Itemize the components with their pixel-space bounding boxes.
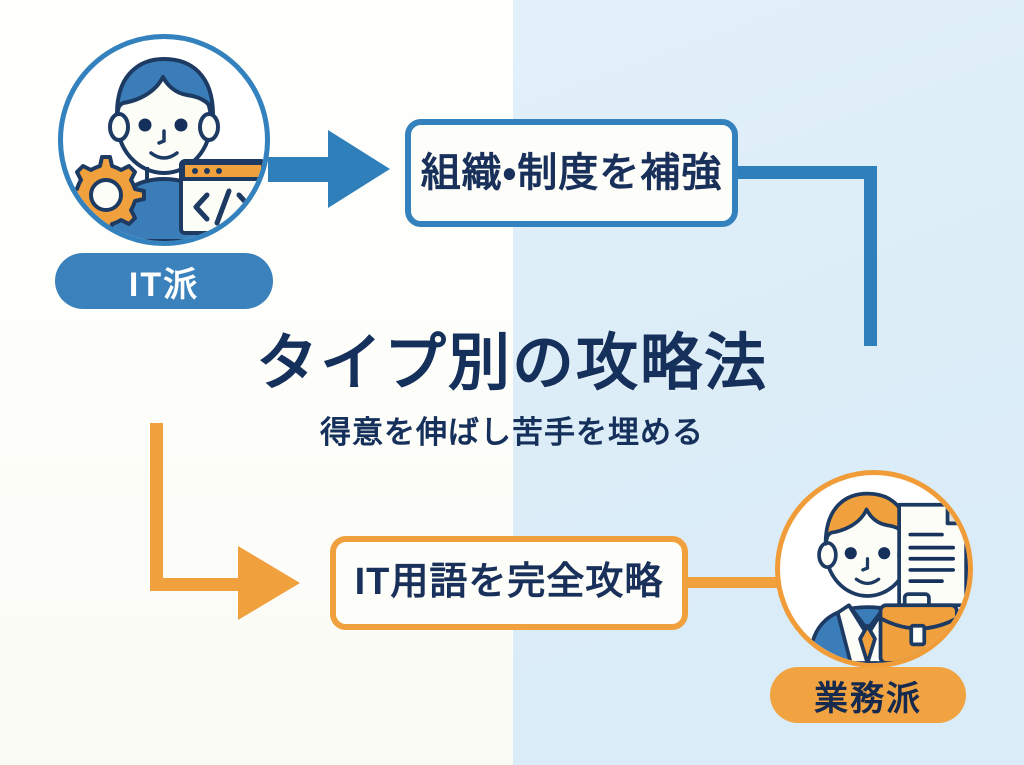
action-box-organization-label: 組織・制度を補強	[421, 151, 723, 195]
business-person-illustration	[780, 475, 968, 663]
connector-blue-vertical	[864, 166, 877, 346]
action-box-it-terms-label: IT用語を完全攻略	[355, 562, 664, 604]
avatar-business-circle	[775, 470, 973, 668]
arrow-right-orange-icon	[238, 546, 300, 620]
action-box-it-terms[interactable]: IT用語を完全攻略	[330, 536, 688, 630]
avatar-it-circle	[58, 34, 270, 246]
code-window-icon	[181, 161, 265, 233]
connector-orange-vertical	[150, 423, 163, 591]
arrow-right-blue-icon	[328, 130, 390, 208]
document-icon	[899, 505, 966, 606]
connector-blue-horizontal	[735, 166, 877, 179]
persona-badge-business-label: 業務派	[814, 671, 922, 720]
persona-badge-business[interactable]: 業務派	[770, 667, 966, 723]
briefcase-icon	[881, 594, 957, 663]
persona-badge-it-label: IT派	[129, 257, 199, 306]
gear-icon	[68, 157, 144, 233]
infographic-canvas: IT派 組織・制度を補強 タイプ別の攻略法 得意を伸ばし苦手を埋める IT用語を…	[0, 0, 1024, 765]
action-box-organization[interactable]: 組織・制度を補強	[405, 119, 738, 227]
it-person-illustration	[63, 39, 265, 241]
connector-orange-to-persona	[686, 577, 782, 588]
persona-badge-it[interactable]: IT派	[55, 253, 273, 309]
